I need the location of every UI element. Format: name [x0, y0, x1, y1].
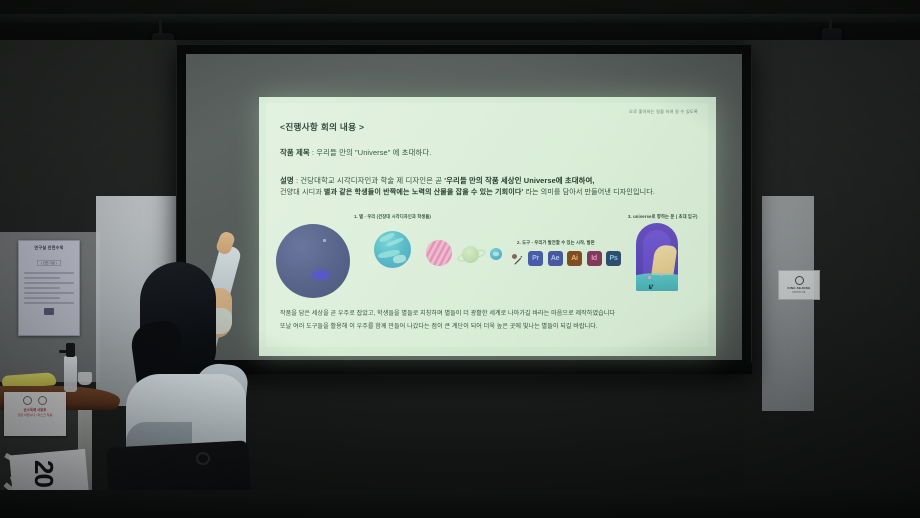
planet-teal: [374, 231, 411, 268]
slide-desc-line-2: 건양대 시디과 별과 같은 학생들이 반짝에는 노력의 산물을 잡을 수 있는 …: [280, 187, 655, 197]
bag-strap-ring: [196, 452, 210, 465]
slide-bottom-line-2: 또날 여러 도구들을 활용해 이 우주를 함께 만들어 나갔다는 점이 큰 계단…: [280, 321, 598, 330]
wall-notice-line: [24, 282, 74, 284]
planet-large-navy-spot: [312, 270, 330, 280]
desc-label: 설명: [280, 176, 294, 185]
planet-large-navy: [276, 224, 350, 298]
slide-desc-line-1: 설명 : 건당대학교 시각디자인과 학술 제 디자인은 곧 '우리들 만의 작품…: [280, 175, 595, 186]
desc-line1-b: '우리들 만의 작품 세상인 Universe에 초대하여,: [444, 176, 594, 185]
wall-notice-line: [24, 302, 74, 304]
ceiling-rail: [0, 14, 920, 23]
indesign-icon: Id: [587, 251, 602, 266]
wall-notice-stamp: [44, 308, 54, 315]
desc-line2-c: 라는 의미를 담아서 만들어낸 디자인입니다.: [523, 188, 655, 196]
cup-on-table: [78, 372, 92, 385]
wall-panel-right: [762, 196, 814, 411]
wall-notice-line: [24, 277, 60, 279]
work-title-value: 우리들 만의 "Universe" 에 초대하다.: [316, 148, 431, 157]
water-base: [636, 275, 678, 291]
wall-notice-line: [24, 287, 60, 289]
wall-notice-poster: 연구실 안전수칙 ( 안전 기본 ): [18, 240, 80, 336]
universe-door-illustration: ▙▘: [636, 223, 678, 291]
face-icon: [23, 396, 32, 405]
wall-notice-line: [24, 292, 74, 294]
adobe-tools-row: Pr Ae Ai Id Ps: [528, 251, 621, 266]
caption-planets: 1. 별 - 우리 (건장대 시각디자인과 학생들): [354, 214, 431, 220]
wall-notice-subheading: ( 안전 기본 ): [37, 260, 61, 266]
bag-number: 20: [28, 460, 59, 487]
table-sign-icons: [7, 396, 63, 405]
caption-door: 3. universe로 향하는 문 ( 초대 입구): [628, 214, 698, 220]
emblem-icon: [795, 276, 804, 285]
figure-feet: ▙▘: [649, 285, 655, 289]
caption-tools: 2. 도구 - 우리가 발전할 수 있는 시작, 발판: [517, 240, 595, 246]
desc-line2-b: 별과 같은 학생들이 반짝에는 노력의 산물을 잡을 수 있는 기회이다': [324, 188, 523, 196]
slide-title: <진행사항 회의 내용 >: [280, 121, 364, 133]
slide-content-area: 오로 좋아하는 일을 하여 갈 수 있도록 <진행사항 회의 내용 > 작품 제…: [266, 103, 708, 347]
premiere-pro-icon: Pr: [528, 251, 543, 266]
projected-slide: 오로 좋아하는 일을 하여 갈 수 있도록 <진행사항 회의 내용 > 작품 제…: [259, 97, 716, 356]
right-wall-sign: KING SEJONG INSTITUTE: [778, 270, 820, 300]
slide-bottom-line-1: 작품을 담은 세상을 곧 우주로 잡았고, 학생들을 별들로 지칭하며 별들이 …: [280, 308, 615, 317]
right-sign-title: KING SEJONG: [787, 286, 810, 290]
floor: [0, 490, 920, 518]
desc-line1-a: 건당대학교 시각디자인과 학술 제 디자인은 곧: [300, 176, 444, 185]
slide-top-note: 오로 좋아하는 일을 하여 갈 수 있도록: [629, 109, 698, 115]
illustrator-icon: Ai: [567, 251, 582, 266]
planet-small-blue: [490, 248, 502, 260]
after-effects-icon: Ae: [548, 251, 563, 266]
slide-work-title-row: 작품 제목 : 우리들 만의 "Universe" 에 초대하다.: [280, 147, 431, 158]
photoshop-icon: Ps: [606, 251, 621, 266]
planet-pink-striped: [426, 240, 452, 266]
planet-pale-green-ringed: [462, 246, 479, 263]
hand-sanitizer-bottle: [64, 356, 77, 392]
work-title-label: 작품 제목: [280, 148, 310, 157]
desc-line2-a: 건양대 시디과: [280, 188, 324, 196]
wall-notice-line: [24, 297, 60, 299]
pen-tool-icon: [513, 255, 524, 266]
classroom-scene: 연구실 안전수칙 ( 안전 기본 ) KING SEJONG INSTITUTE…: [0, 0, 920, 518]
table-sign: 손소독제 사용후 입장 바랍니다 / 마스크 착용: [4, 392, 66, 436]
right-sign-subtitle: INSTITUTE: [793, 291, 806, 294]
wall-notice-line: [24, 272, 74, 274]
table-sign-line-2: 입장 바랍니다 / 마스크 착용: [7, 413, 63, 418]
face-icon: [38, 396, 47, 405]
planet-large-navy-dot: [323, 239, 326, 242]
